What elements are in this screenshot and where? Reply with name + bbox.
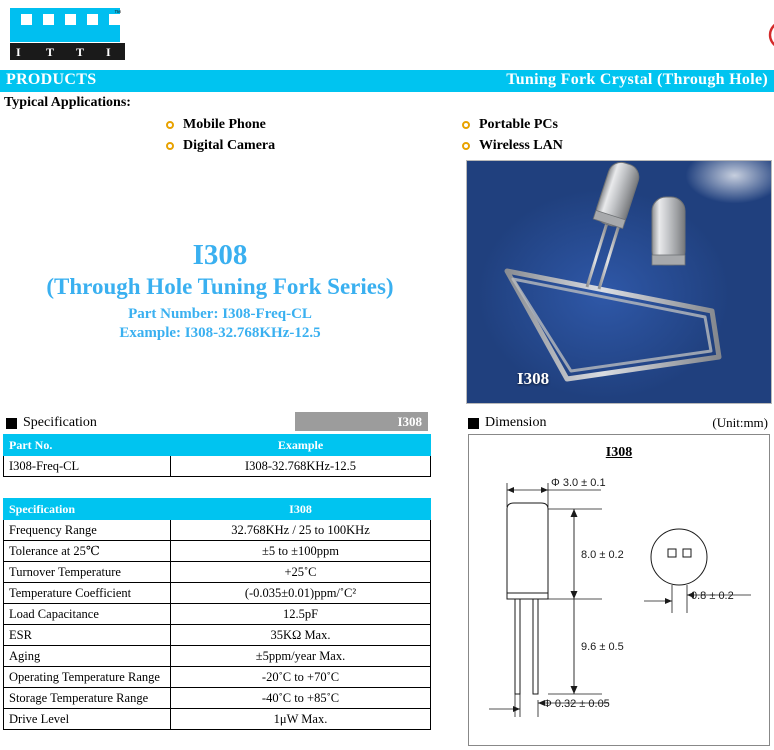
part-number-example: Example: I308-32.768KHz-12.5 (0, 325, 440, 342)
table-row: Aging±5ppm/year Max. (4, 646, 431, 667)
product-title-block: I308 (Through Hole Tuning Fork Series) P… (0, 240, 440, 342)
applications-column-2: Portable PCs Wireless LAN (462, 114, 563, 156)
dim-lead-spacing-label: 0.8 ± 0.2 (691, 590, 734, 602)
row-label: I308-Freq-CL (4, 456, 171, 477)
dimension-drawing: Φ 3.0 ± 0.1 8.0 ± 0.2 9.6 ± 0.5 Φ 0.32 ±… (469, 435, 771, 747)
typical-applications-heading: Typical Applications: (4, 95, 131, 111)
square-bullet-icon (6, 418, 17, 429)
application-item: Portable PCs (462, 114, 563, 135)
row-value: I308-32.768KHz-12.5 (171, 456, 431, 477)
column-header-specification: Specification (4, 499, 171, 520)
row-label: Frequency Range (4, 520, 171, 541)
row-label: Storage Temperature Range (4, 688, 171, 709)
table-row: Turnover Temperature+25˚C (4, 562, 431, 583)
row-value: 35KΩ Max. (171, 625, 431, 646)
products-header-bar: PRODUCTS Tuning Fork Crystal (Through Ho… (0, 70, 774, 92)
dim-body-diameter-label: Φ 3.0 ± 0.1 (551, 477, 606, 489)
table-header-row: Specification I308 (4, 499, 431, 520)
table-row: Temperature Coefficient(-0.035±0.01)ppm/… (4, 583, 431, 604)
table-row: I308-Freq-CLI308-32.768KHz-12.5 (4, 456, 431, 477)
lead-free-icon: Pb (768, 16, 774, 54)
product-series-subtitle: (Through Hole Tuning Fork Series) (0, 274, 440, 300)
dimension-section-label: Dimension (468, 415, 546, 431)
applications-column-1: Mobile Phone Digital Camera (166, 114, 275, 156)
photo-part-label: I308 (517, 369, 549, 389)
dimension-label-text: Dimension (485, 415, 546, 431)
application-label: Wireless LAN (479, 138, 563, 154)
company-logo: ™ I T T I (10, 8, 125, 60)
square-bullet-icon (468, 418, 479, 429)
crystal-components-illustration (467, 161, 772, 404)
table-row: Storage Temperature Range-40˚C to +85˚C (4, 688, 431, 709)
row-value: ±5 to ±100ppm (171, 541, 431, 562)
specification-section-label: Specification (6, 415, 97, 431)
row-value: (-0.035±0.01)ppm/˚C² (171, 583, 431, 604)
logo-letter-2: T (46, 45, 54, 60)
dim-lead-length-label: 9.6 ± 0.5 (581, 641, 624, 653)
row-label: Aging (4, 646, 171, 667)
product-category-label: Tuning Fork Crystal (Through Hole) (506, 71, 768, 89)
specification-table: Specification I308 Frequency Range32.768… (3, 498, 431, 730)
application-item: Mobile Phone (166, 114, 275, 135)
row-value: -20˚C to +70˚C (171, 667, 431, 688)
product-photo: I308 (466, 160, 772, 404)
dimension-drawing-box: I308 (468, 434, 770, 746)
row-label: Operating Temperature Range (4, 667, 171, 688)
table-row: ESR35KΩ Max. (4, 625, 431, 646)
row-label: ESR (4, 625, 171, 646)
application-label: Digital Camera (183, 138, 275, 154)
row-label: Tolerance at 25℃ (4, 541, 171, 562)
part-number-format: Part Number: I308-Freq-CL (0, 306, 440, 323)
trademark-symbol: ™ (114, 10, 121, 17)
table-row: Tolerance at 25℃±5 to ±100ppm (4, 541, 431, 562)
row-label: Turnover Temperature (4, 562, 171, 583)
part-number-table: Part No. Example I308-Freq-CLI308-32.768… (3, 434, 431, 477)
row-label: Load Capacitance (4, 604, 171, 625)
application-item: Digital Camera (166, 135, 275, 156)
row-value: -40˚C to +85˚C (171, 688, 431, 709)
application-item: Wireless LAN (462, 135, 563, 156)
table-header-row: Part No. Example (4, 435, 431, 456)
products-label: PRODUCTS (6, 71, 96, 89)
dim-body-height-label: 8.0 ± 0.2 (581, 549, 624, 561)
bullet-icon (166, 121, 174, 129)
row-value: 12.5pF (171, 604, 431, 625)
specification-label-text: Specification (23, 415, 97, 431)
logo-letter-4: I (106, 45, 111, 60)
bullet-icon (462, 121, 470, 129)
dimension-unit-label: (Unit:mm) (712, 415, 768, 431)
table-row: Drive Level1μW Max. (4, 709, 431, 730)
bullet-icon (462, 142, 470, 150)
page-title: I308 (0, 240, 440, 272)
row-value: 1μW Max. (171, 709, 431, 730)
table-row: Load Capacitance12.5pF (4, 604, 431, 625)
row-value: +25˚C (171, 562, 431, 583)
row-label: Drive Level (4, 709, 171, 730)
column-header-i308: I308 (171, 499, 431, 520)
column-header-part-no: Part No. (4, 435, 171, 456)
row-value: 32.768KHz / 25 to 100KHz (171, 520, 431, 541)
dim-lead-diameter-label: Φ 0.32 ± 0.05 (543, 698, 610, 710)
application-label: Mobile Phone (183, 117, 266, 133)
logo-letter-bar: I T T I (10, 43, 125, 60)
logo-letter-1: I (16, 45, 21, 60)
table-row: Operating Temperature Range-20˚C to +70˚… (4, 667, 431, 688)
specification-part-tag: I308 (295, 412, 428, 431)
top-bar: ™ I T T I Pb RoHS Compliant Halogen Free (0, 0, 774, 68)
bullet-icon (166, 142, 174, 150)
part-number-table-body: I308-Freq-CLI308-32.768KHz-12.5 (4, 456, 431, 477)
column-header-example: Example (171, 435, 431, 456)
table-row: Frequency Range32.768KHz / 25 to 100KHz (4, 520, 431, 541)
row-value: ±5ppm/year Max. (171, 646, 431, 667)
logo-wave-icon (10, 8, 120, 42)
row-label: Temperature Coefficient (4, 583, 171, 604)
specification-table-body: Frequency Range32.768KHz / 25 to 100KHzT… (4, 520, 431, 730)
application-label: Portable PCs (479, 117, 558, 133)
logo-letter-3: T (76, 45, 84, 60)
